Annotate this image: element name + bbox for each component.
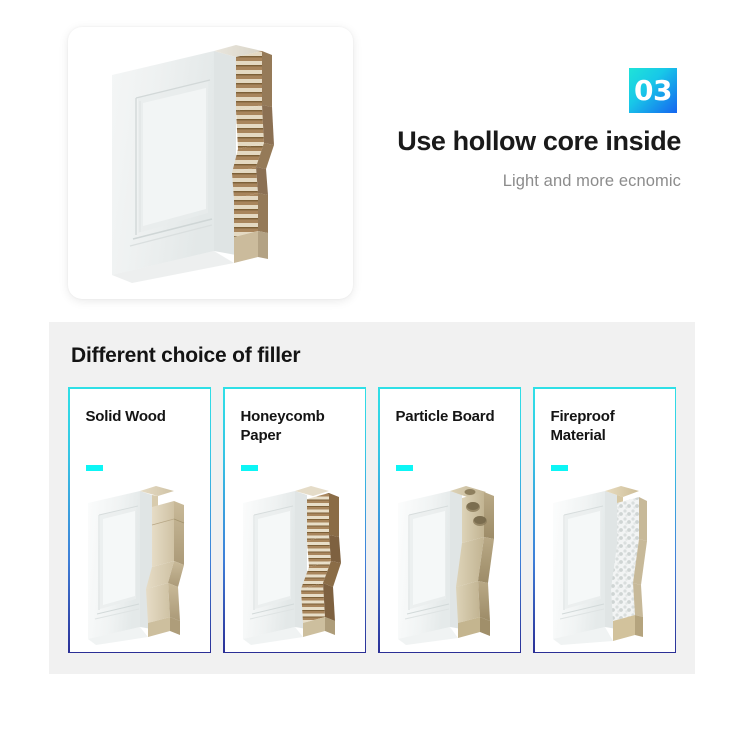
filler-cards-row: Solid Wood bbox=[68, 387, 676, 653]
filler-section-heading: Different choice of filler bbox=[71, 344, 300, 368]
filler-card-title: Particle Board bbox=[396, 407, 510, 426]
filler-card-fireproof-material[interactable]: Fireproof Material bbox=[533, 387, 676, 653]
step-number-badge: 03 bbox=[629, 68, 677, 113]
accent-dash bbox=[86, 465, 103, 471]
solid-wood-door-illustration bbox=[70, 477, 210, 646]
hero-section: 03 Use hollow core inside Light and more… bbox=[0, 0, 750, 322]
filler-card-honeycomb-paper[interactable]: Honeycomb Paper bbox=[223, 387, 366, 653]
accent-dash bbox=[396, 465, 413, 471]
accent-dash bbox=[241, 465, 258, 471]
filler-card-particle-board[interactable]: Particle Board bbox=[378, 387, 521, 653]
accent-dash bbox=[551, 465, 568, 471]
honeycomb-paper-door-illustration bbox=[225, 477, 365, 646]
filler-card-solid-wood[interactable]: Solid Wood bbox=[68, 387, 211, 653]
filler-card-title: Fireproof Material bbox=[551, 407, 665, 445]
step-number-badge-label: 03 bbox=[634, 77, 672, 105]
hero-product-image-card[interactable] bbox=[68, 27, 353, 299]
hero-title: Use hollow core inside bbox=[397, 126, 681, 157]
fireproof-material-door-illustration bbox=[535, 477, 675, 646]
filler-card-title: Solid Wood bbox=[86, 407, 200, 426]
particle-board-core-door-icon bbox=[388, 477, 512, 645]
hero-door-illustration bbox=[68, 27, 353, 299]
solid-wood-core-door-icon bbox=[78, 477, 202, 645]
hero-subtitle: Light and more ecnomic bbox=[503, 172, 681, 191]
particle-board-door-illustration bbox=[380, 477, 520, 646]
filler-card-title: Honeycomb Paper bbox=[241, 407, 355, 445]
hollow-core-door-icon bbox=[86, 43, 336, 283]
filler-options-panel: Different choice of filler Solid Wood bbox=[49, 322, 695, 674]
honeycomb-paper-core-door-icon bbox=[233, 477, 357, 645]
fireproof-material-core-door-icon bbox=[543, 477, 667, 645]
page-root: 03 Use hollow core inside Light and more… bbox=[0, 0, 750, 750]
